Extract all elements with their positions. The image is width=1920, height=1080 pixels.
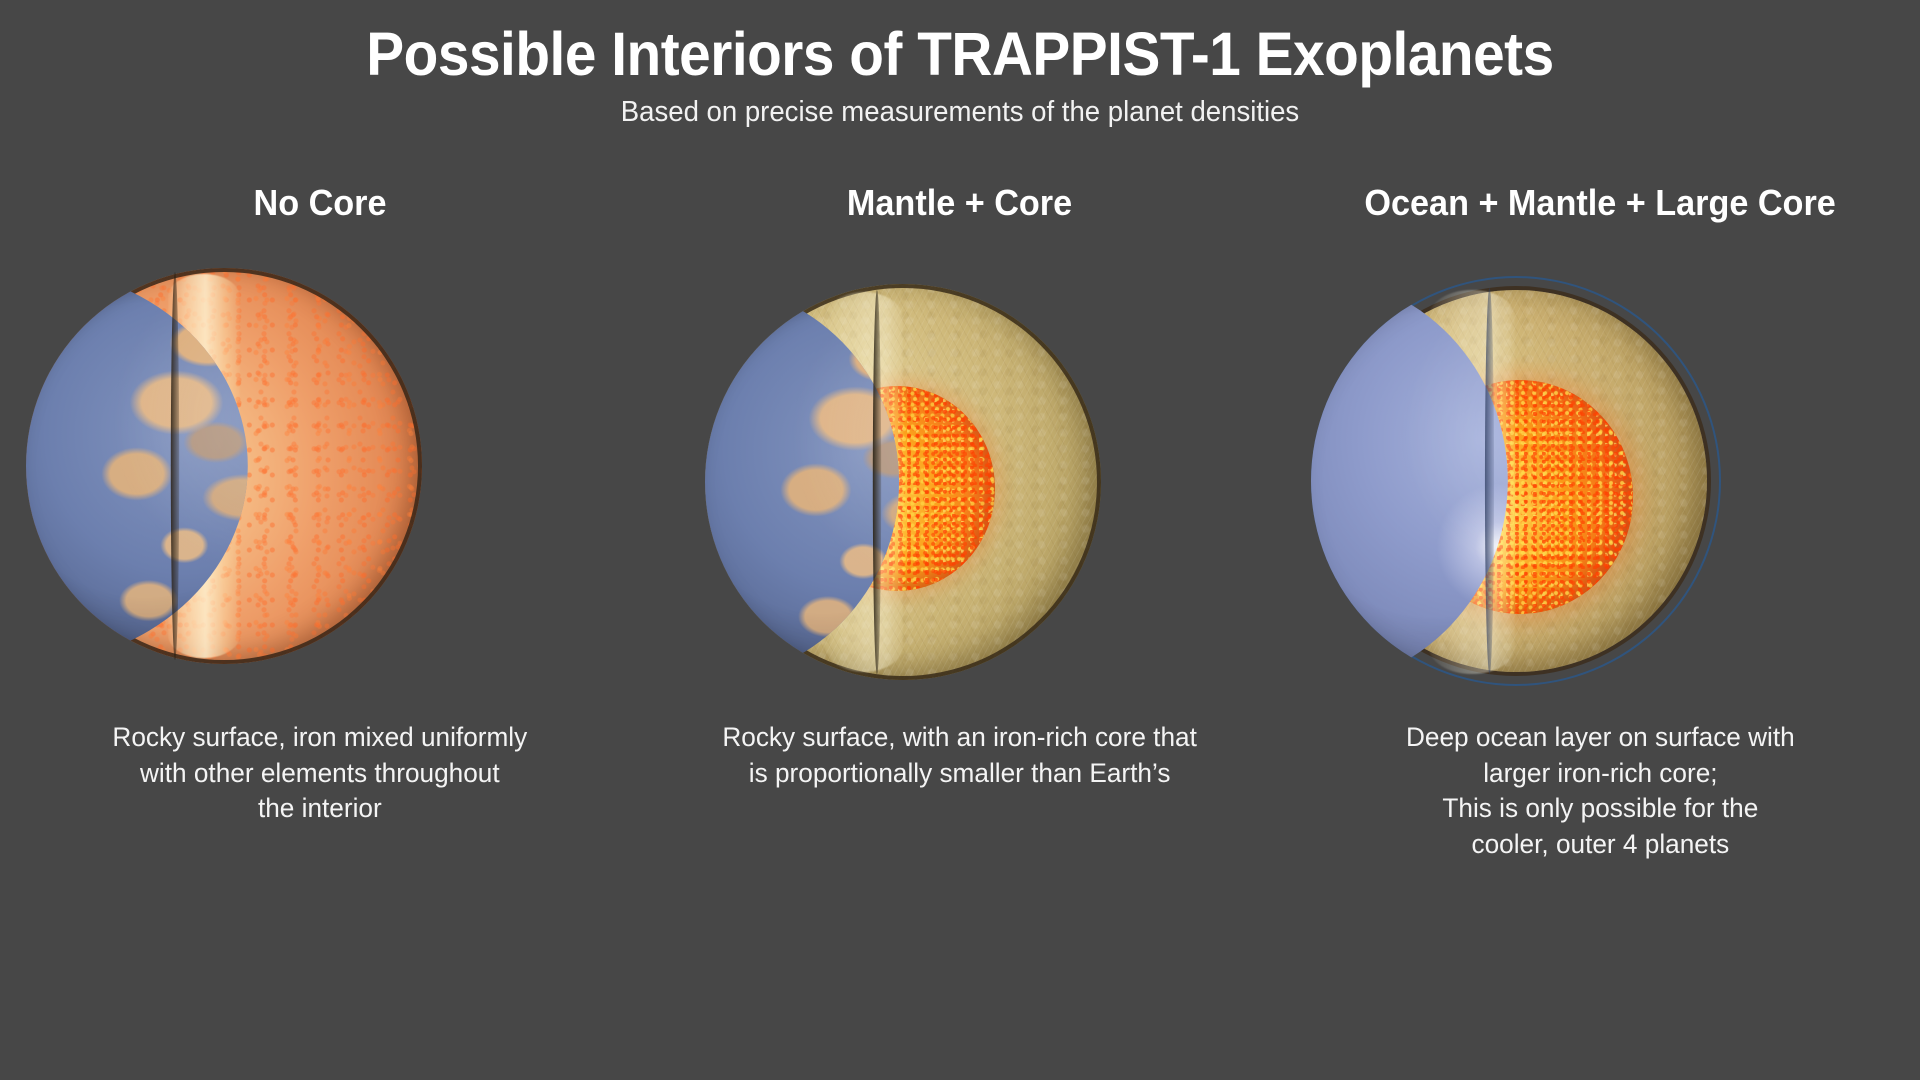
caption-no-core: Rocky surface, iron mixed uniformly with…	[113, 720, 528, 827]
column-ocean-mantle-large-core: Ocean + Mantle + Large Core Deep ocea	[1280, 160, 1920, 1060]
page-subtitle: Based on precise measurements of the pla…	[48, 96, 1872, 129]
interior-model-columns: No Core Rocky surface, iron mixed unifor…	[0, 160, 1920, 1060]
cutaway-seam	[873, 290, 881, 674]
caption-mantle-core: Rocky surface, with an iron-rich core th…	[723, 720, 1198, 791]
cutaway-seam	[171, 272, 179, 660]
planet-stage-ocean-mantle-large-core	[1280, 236, 1920, 706]
column-title-ocean-mantle-large-core: Ocean + Mantle + Large Core	[1364, 182, 1835, 224]
planet-stage-mantle-core	[640, 236, 1280, 706]
cutaway-seam	[1485, 288, 1494, 674]
planet-cutaway-no-core	[26, 268, 422, 664]
column-title-mantle-core: Mantle + Core	[847, 182, 1072, 224]
planet-cutaway-mantle-core	[705, 284, 1101, 680]
caption-ocean-mantle-large-core: Deep ocean layer on surface with larger …	[1406, 720, 1795, 863]
column-no-core: No Core Rocky surface, iron mixed unifor…	[0, 160, 640, 1060]
infographic-header: Possible Interiors of TRAPPIST-1 Exoplan…	[0, 0, 1920, 129]
page-title: Possible Interiors of TRAPPIST-1 Exoplan…	[67, 22, 1853, 86]
planet-stage-no-core	[0, 236, 640, 706]
column-title-no-core: No Core	[253, 182, 386, 224]
planet-cutaway-ocean-mantle-large-core	[1311, 276, 1721, 686]
column-mantle-core: Mantle + Core Rocky surface, with an iro…	[640, 160, 1280, 1060]
